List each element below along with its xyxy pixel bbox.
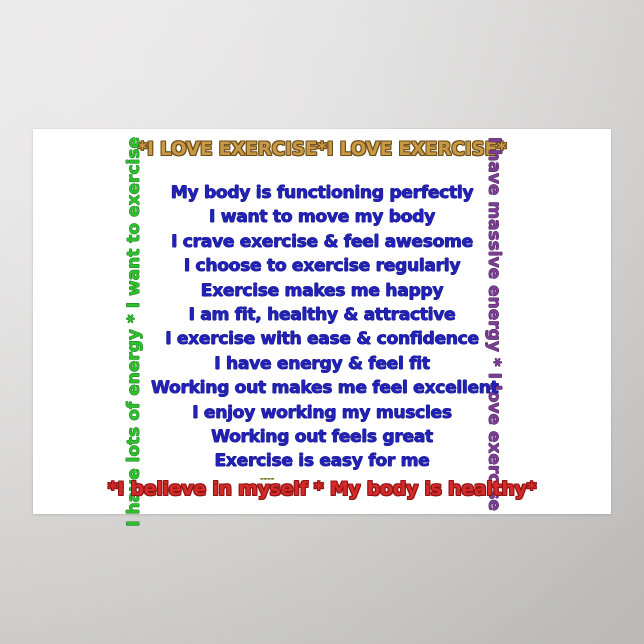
affirmation-list: My body is functioning perfectly I want … [151,181,493,474]
affirmation-line: I have energy & feel fit [151,352,493,376]
left-vertical-affirmation: I have lots of energy * I want to exerci… [121,137,147,487]
affirmation-line: Working out feels great [151,425,493,449]
affirmation-line: I choose to exercise regularly [151,254,493,278]
poster-title-top: *I LOVE EXERCISE*I LOVE EXERCISE* [33,139,611,160]
affirmation-line: Working out makes me feel excellent [151,376,493,400]
left-vertical-affirmation-text: I have lots of energy * I want to exerci… [124,137,144,527]
affirmation-line: I want to move my body [151,205,493,229]
affirmation-line: Exercise makes me happy [151,279,493,303]
poster-sheet: *I LOVE EXERCISE*I LOVE EXERCISE* I have… [33,129,611,514]
affirmation-line: My body is functioning perfectly [151,181,493,205]
affirmation-line: I exercise with ease & confidence [151,327,493,351]
poster-scene: *I LOVE EXERCISE*I LOVE EXERCISE* I have… [0,0,644,644]
affirmation-line: Exercise is easy for me [151,449,493,473]
poster-title-bottom: *I believe in myself * My body is health… [33,478,611,500]
poster-content: *I LOVE EXERCISE*I LOVE EXERCISE* I have… [33,129,611,514]
affirmation-line: I crave exercise & feel awesome [151,230,493,254]
affirmation-line: I am fit, healthy & attractive [151,303,493,327]
affirmation-line: I enjoy working my muscles [151,401,493,425]
